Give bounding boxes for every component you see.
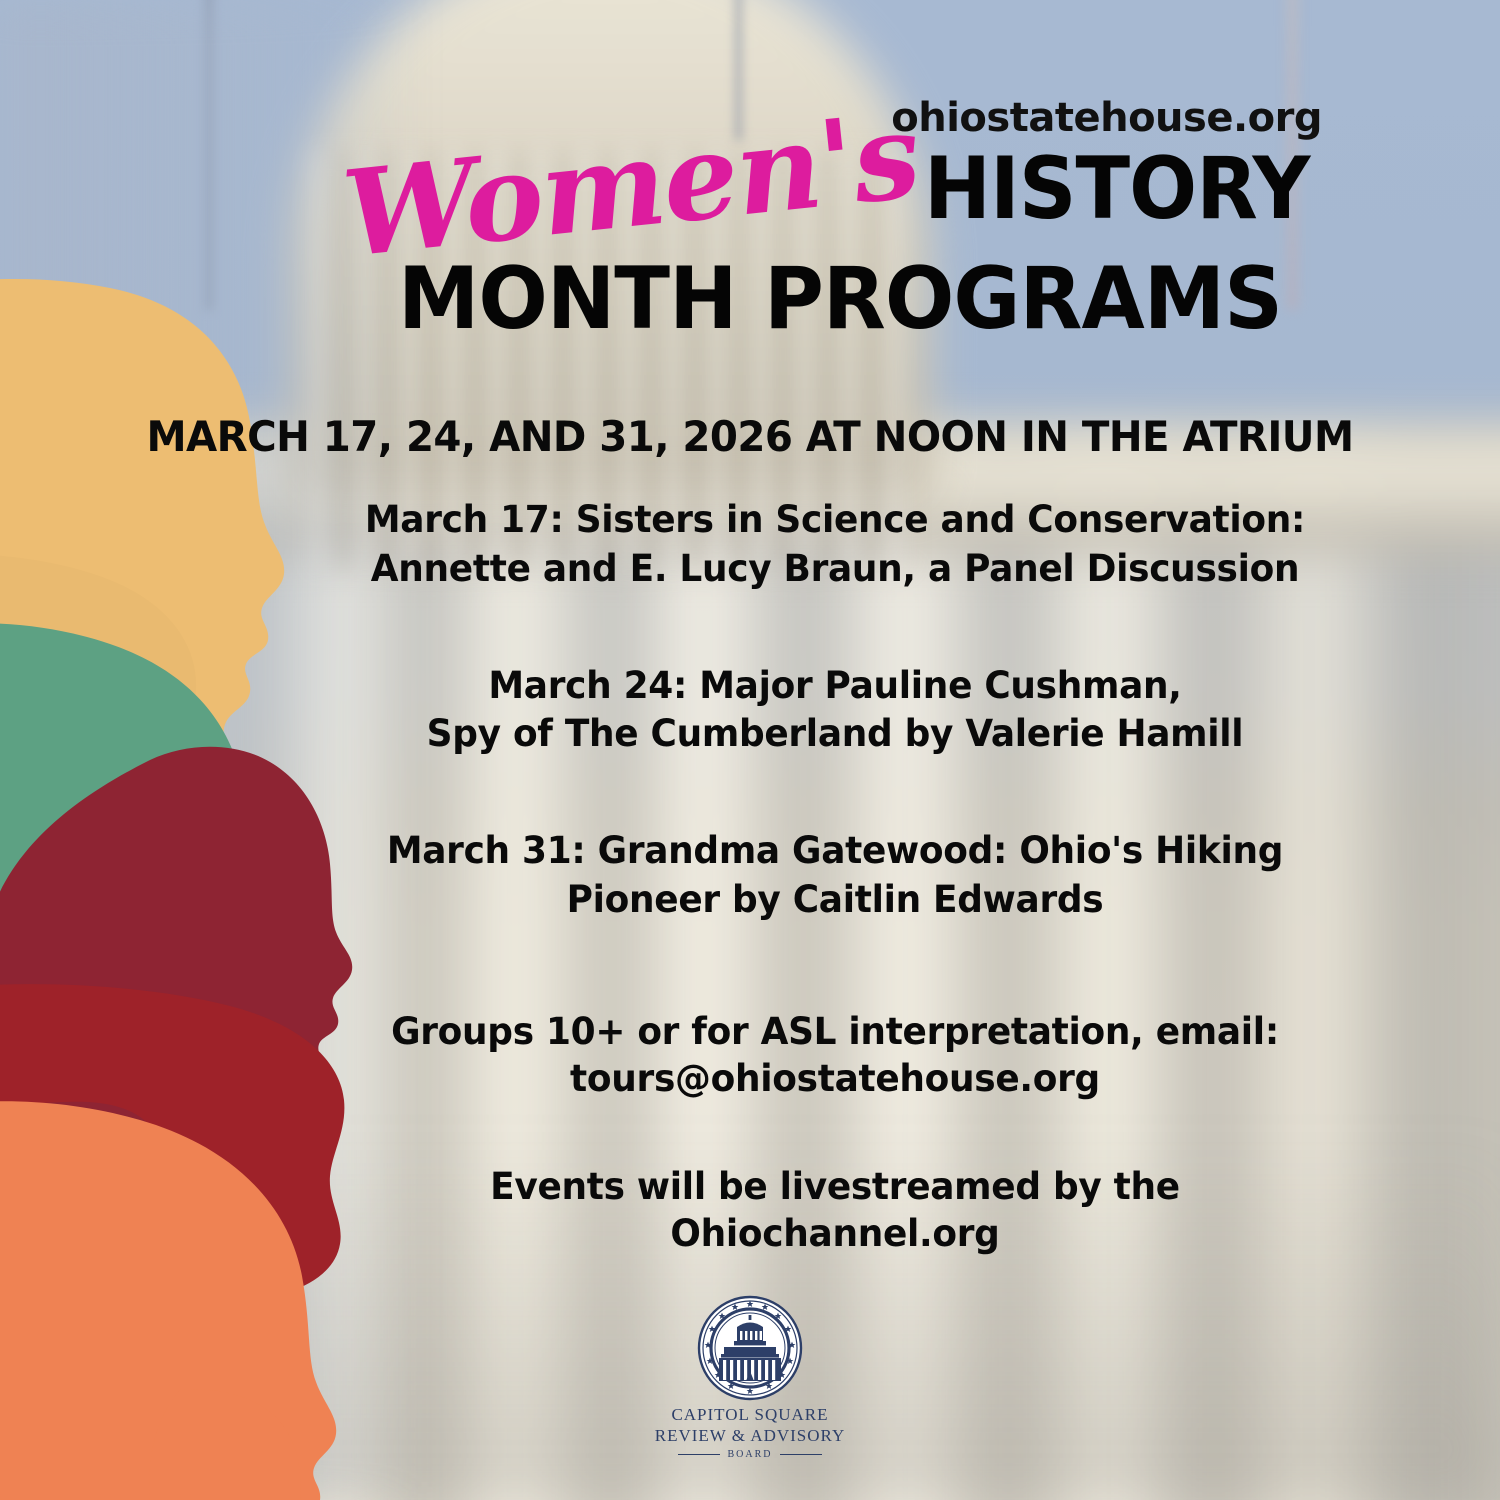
event-item: March 17: Sisters in Science and Conserv… (316, 496, 1354, 594)
title-word-history: HISTORY (924, 146, 1309, 232)
logo-line-3: BOARD (655, 1449, 845, 1460)
event-item: March 31: Grandma Gatewood: Ohio's Hikin… (316, 827, 1354, 925)
title-script-womens: Women's (338, 96, 923, 274)
logo-wordmark: CAPITOL SQUARE REVIEW & ADVISORY BOARD (655, 1405, 845, 1460)
page-title: Women's HISTORY MONTH PROGRAMS (330, 118, 1350, 344)
event-list: March 17: Sisters in Science and Conserv… (300, 496, 1370, 993)
livestream-url[interactable]: Ohiochannel.org (316, 1210, 1354, 1257)
event-line-2: Pioneer by Caitlin Edwards (316, 876, 1354, 925)
accessibility-note: Groups 10+ or for ASL interpretation, em… (316, 1008, 1354, 1103)
title-row-two: MONTH PROGRAMS (356, 254, 1325, 344)
event-line-2: Spy of The Cumberland by Valerie Hamill (316, 710, 1354, 759)
event-line-1: March 24: Major Pauline Cushman, (488, 664, 1181, 707)
statehouse-seal-icon (697, 1295, 803, 1401)
event-line-2: Annette and E. Lucy Braun, a Panel Discu… (316, 545, 1354, 594)
event-line-1: March 31: Grandma Gatewood: Ohio's Hikin… (387, 829, 1283, 872)
event-item: March 24: Major Pauline Cushman, Spy of … (316, 662, 1354, 760)
event-dates-subtitle: MARCH 17, 24, AND 31, 2026 AT NOON IN TH… (30, 412, 1470, 461)
livestream-note: Events will be livestreamed by the Ohioc… (316, 1163, 1354, 1258)
note-line-1: Events will be livestreamed by the (490, 1165, 1180, 1208)
logo-line-1: CAPITOL SQUARE (655, 1405, 845, 1425)
event-line-1: March 17: Sisters in Science and Conserv… (365, 498, 1305, 541)
logo-line-2: REVIEW & ADVISORY (655, 1426, 845, 1446)
notes-list: Groups 10+ or for ASL interpretation, em… (300, 1008, 1370, 1317)
note-line-1: Groups 10+ or for ASL interpretation, em… (391, 1010, 1279, 1053)
title-row-one: Women's HISTORY (330, 118, 1350, 236)
contact-email[interactable]: tours@ohiostatehouse.org (316, 1055, 1354, 1102)
poster-canvas: ohiostatehouse.org Women's HISTORY MONTH… (0, 0, 1500, 1500)
capitol-square-review-advisory-board-logo: CAPITOL SQUARE REVIEW & ADVISORY BOARD (0, 1295, 1500, 1460)
